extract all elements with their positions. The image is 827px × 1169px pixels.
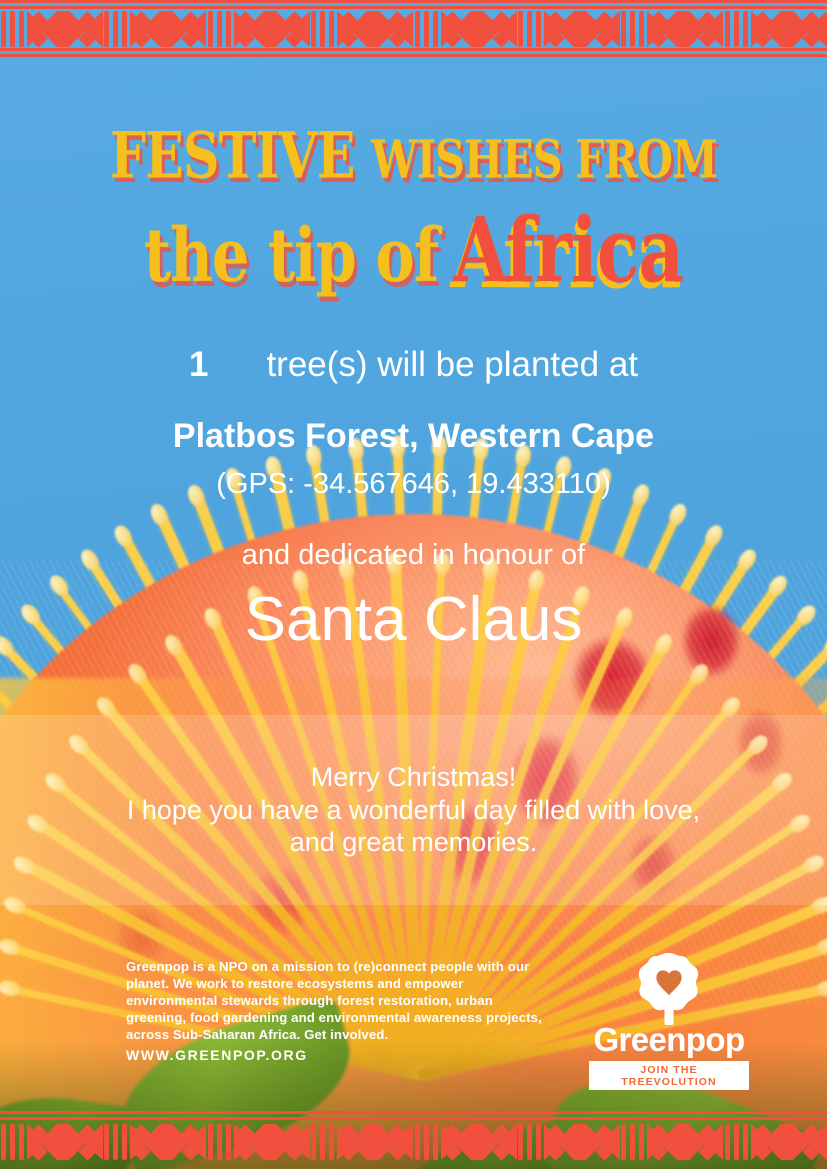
border-motif <box>620 1124 723 1160</box>
border-motif <box>724 11 827 47</box>
headline-the-tip-of: the tip of <box>144 211 438 299</box>
border-motif <box>207 1124 310 1160</box>
border-motif-row <box>0 11 827 47</box>
tree-count-label: tree(s) will be planted at <box>266 345 638 384</box>
border-motif <box>414 1124 517 1160</box>
certificate-details: 1tree(s) will be planted at Platbos Fore… <box>0 344 827 655</box>
message-line-2: I hope you have a wonderful day filled w… <box>87 794 740 827</box>
border-motif <box>0 1124 103 1160</box>
footer: Greenpop is a NPO on a mission to (re)co… <box>0 951 827 1111</box>
border-motif <box>103 1124 206 1160</box>
headline-wishes-from: WISHES FROM <box>371 130 717 190</box>
festive-tree-certificate-poster: FESTIVE WISHES FROM the tip ofAfrica 1tr… <box>0 0 827 1169</box>
headline-festive: FESTIVE <box>110 117 371 193</box>
border-motif <box>103 11 206 47</box>
border-motif <box>310 11 413 47</box>
border-motif <box>310 1124 413 1160</box>
dedication-label: and dedicated in honour of <box>0 539 827 572</box>
page-title: FESTIVE WISHES FROM the tip ofAfrica <box>0 128 827 288</box>
border-motif <box>724 1124 827 1160</box>
tree-heart-icon <box>634 951 704 1027</box>
border-motif <box>620 11 723 47</box>
gps-coordinates: (GPS: -34.567646, 19.433110) <box>0 468 827 501</box>
message-line-1: Merry Christmas! <box>271 761 557 794</box>
personal-message-panel: Merry Christmas! I hope you have a wonde… <box>0 715 827 905</box>
decorative-border-bottom <box>0 1111 827 1169</box>
headline-line-2: the tip ofAfrica <box>21 207 807 296</box>
headline-africa: Africa <box>453 199 683 302</box>
border-motif <box>207 11 310 47</box>
greenpop-logo: Greenpop JOIN THE TREEVOLUTION <box>589 951 749 1090</box>
headline-line-1: FESTIVE WISHES FROM <box>25 123 802 187</box>
logo-tagline: JOIN THE TREEVOLUTION <box>589 1061 749 1090</box>
border-motif <box>414 11 517 47</box>
border-motif <box>517 11 620 47</box>
border-motif <box>0 11 103 47</box>
decorative-border-top <box>0 0 827 58</box>
website-url[interactable]: WWW.GREENPOP.ORG <box>126 1047 308 1063</box>
planting-site: Platbos Forest, Western Cape <box>0 417 827 456</box>
about-greenpop-text: Greenpop is a NPO on a mission to (re)co… <box>126 959 546 1043</box>
honouree-name: Santa Claus <box>0 584 827 655</box>
border-motif-row <box>0 1124 827 1160</box>
message-line-3: and great memories. <box>250 826 578 859</box>
tree-count-line: 1tree(s) will be planted at <box>0 344 827 385</box>
border-motif <box>517 1124 620 1160</box>
logo-wordmark: Greenpop <box>589 1023 749 1056</box>
tree-quantity: 1 <box>189 345 208 384</box>
